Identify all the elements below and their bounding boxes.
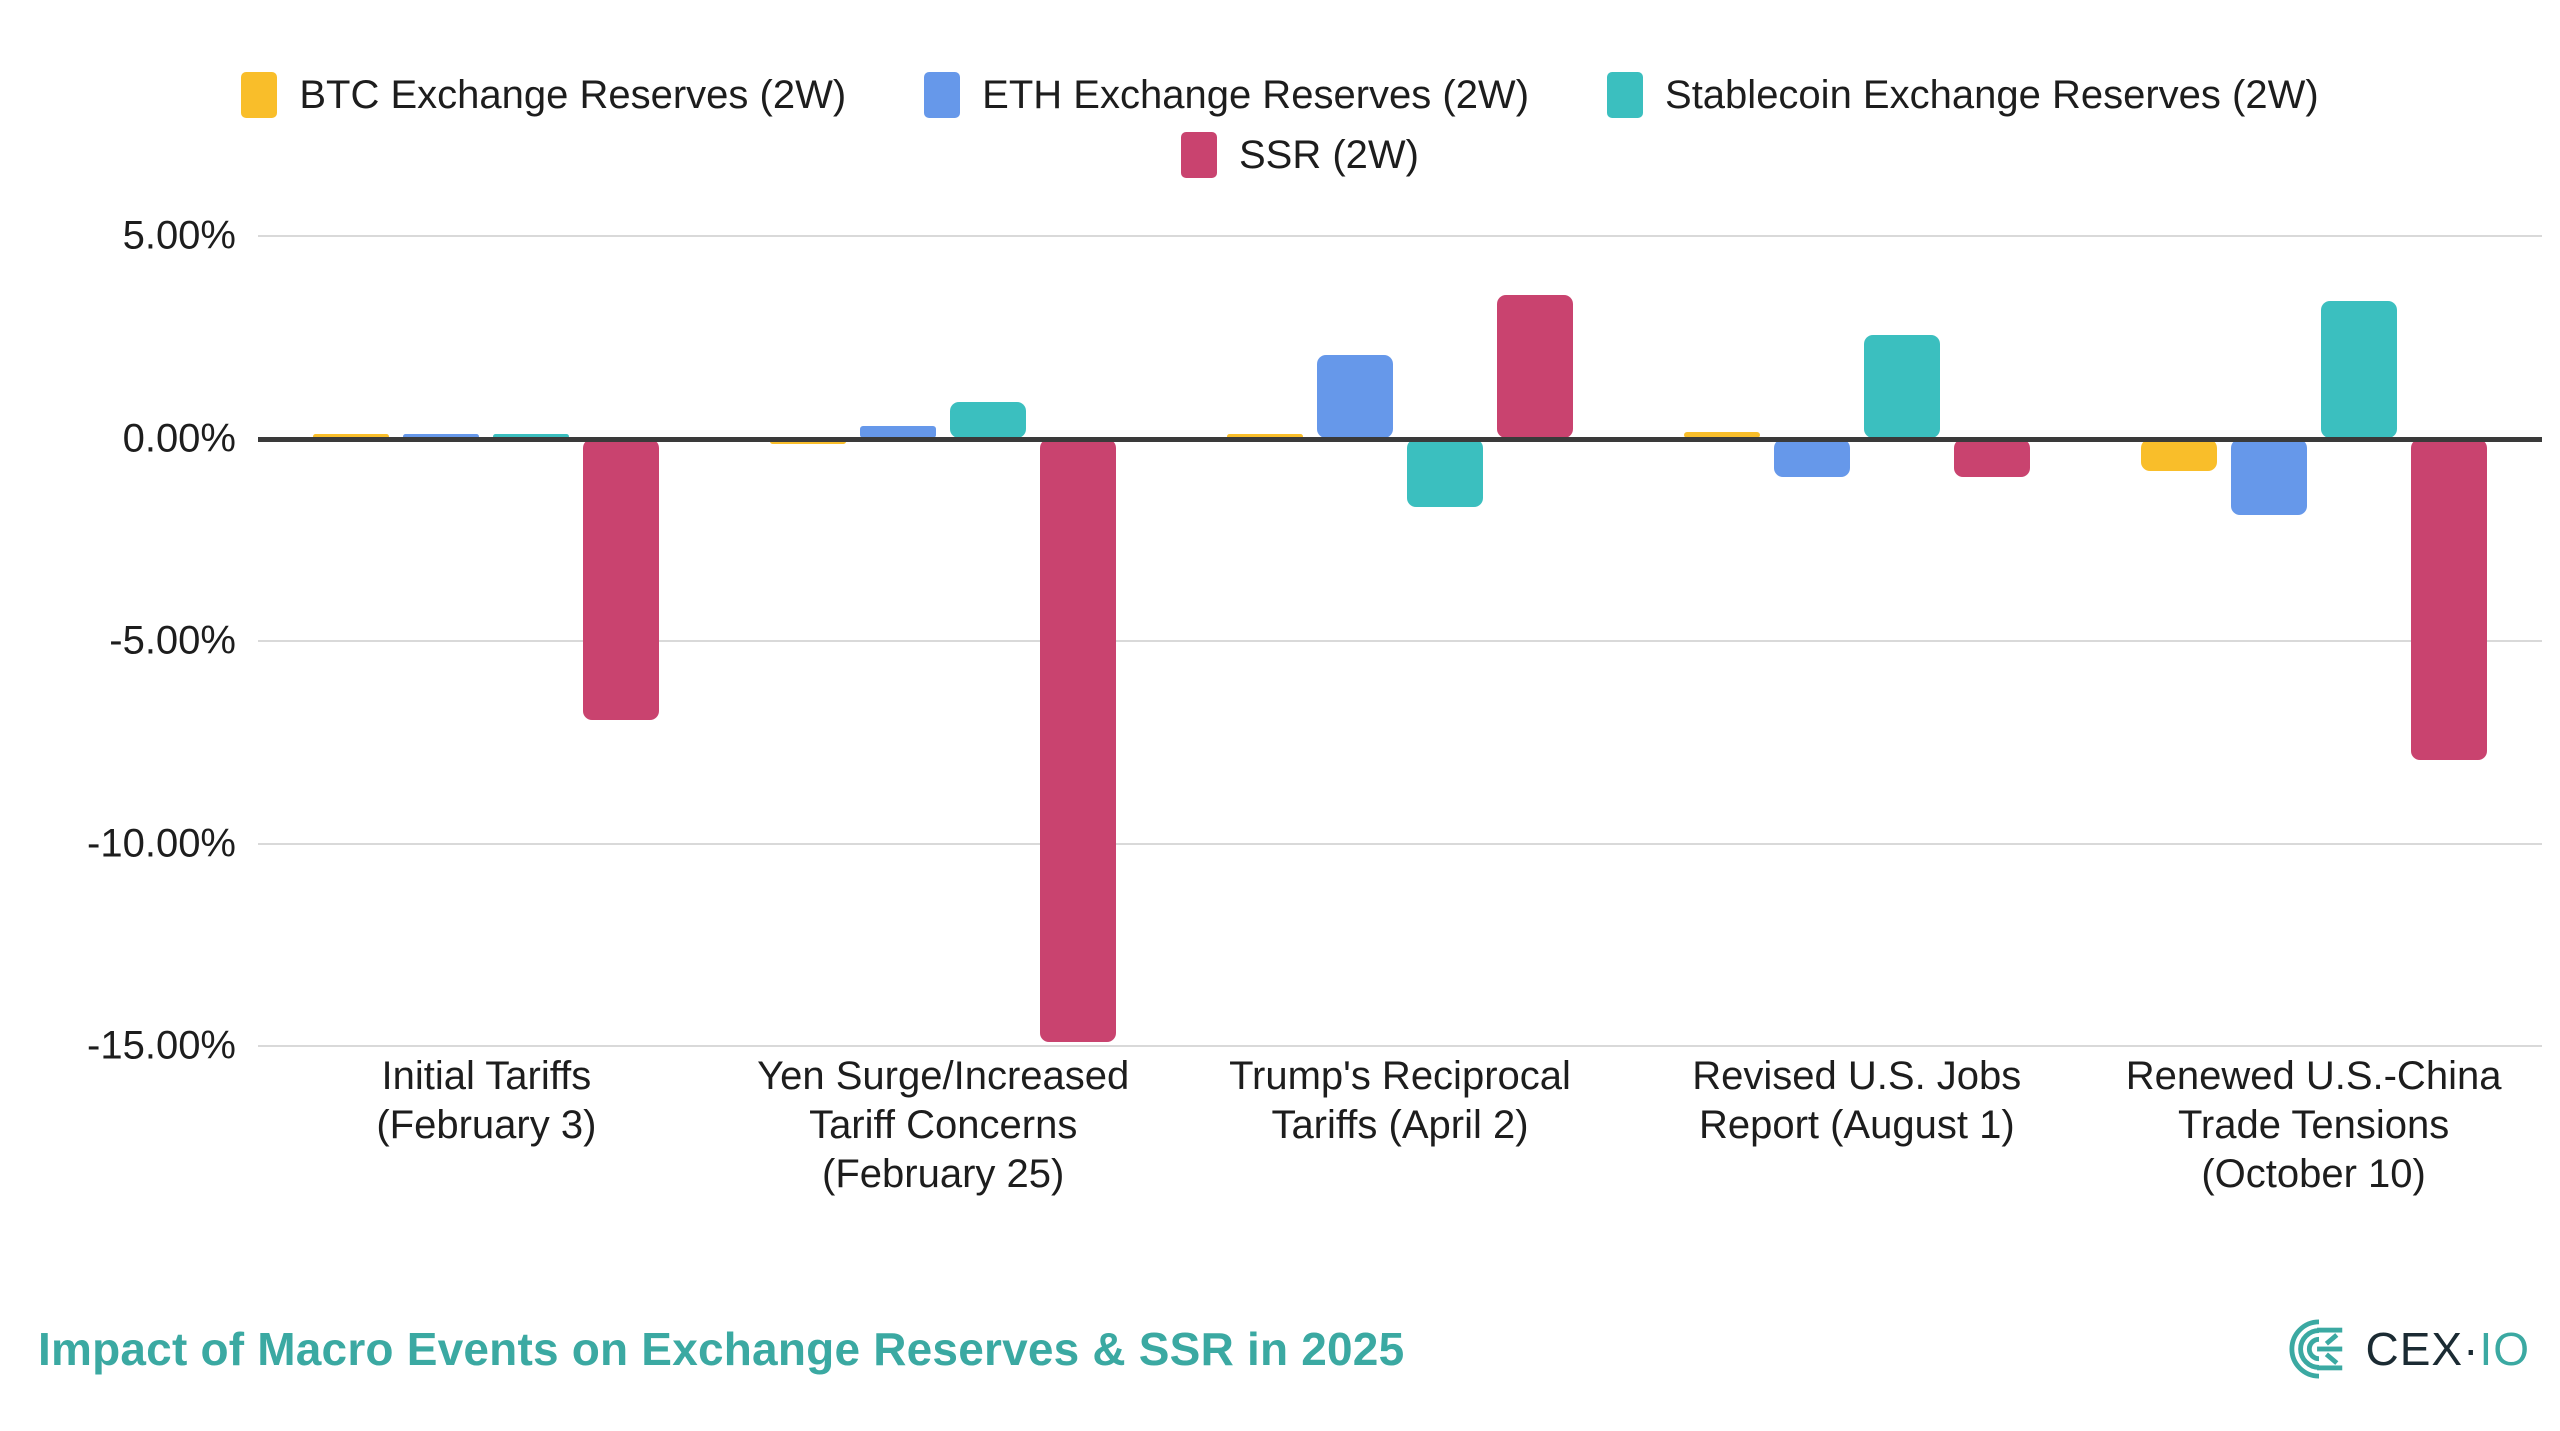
legend-item-btc[interactable]: BTC Exchange Reserves (2W)	[241, 72, 846, 118]
chart-legend: BTC Exchange Reserves (2W) ETH Exchange …	[0, 72, 2560, 178]
bar-slot	[403, 236, 479, 1046]
legend-item-eth[interactable]: ETH Exchange Reserves (2W)	[924, 72, 1529, 118]
bar-slot	[2321, 236, 2397, 1046]
bar-groups	[258, 236, 2542, 1046]
chart-container: BTC Exchange Reserves (2W) ETH Exchange …	[0, 0, 2560, 1431]
legend-item-ssr[interactable]: SSR (2W)	[1181, 132, 1419, 178]
x-axis-category-label: Revised U.S. JobsReport (August 1)	[1628, 1052, 2085, 1198]
brand-logo: CEX·IO	[2288, 1318, 2530, 1380]
legend-swatch-stablecoin-icon	[1607, 72, 1643, 118]
zero-line	[258, 437, 2542, 442]
bar-group	[2085, 236, 2542, 1046]
y-axis: 5.00%0.00%-5.00%-10.00%-15.00%	[0, 236, 258, 1046]
bar-group	[715, 236, 1172, 1046]
bar-slot	[950, 236, 1026, 1046]
bar-slot	[2411, 236, 2487, 1046]
legend-swatch-btc-icon	[241, 72, 277, 118]
x-axis-category-label: Trump's ReciprocalTariffs (April 2)	[1172, 1052, 1629, 1198]
bar-slot	[1684, 236, 1760, 1046]
y-axis-tick-label: 5.00%	[123, 214, 236, 259]
x-axis-labels: Initial Tariffs(February 3)Yen Surge/Inc…	[258, 1052, 2542, 1198]
bar-slot	[1227, 236, 1303, 1046]
x-axis-category-label: Yen Surge/IncreasedTariff Concerns(Febru…	[715, 1052, 1172, 1198]
bar[interactable]	[583, 439, 659, 720]
x-axis-category-line: (February 3)	[274, 1101, 699, 1150]
x-axis-category-line: Tariff Concerns	[731, 1101, 1156, 1150]
x-axis-category-line: Trade Tensions	[2101, 1101, 2526, 1150]
y-axis-tick-label: -5.00%	[109, 619, 236, 664]
bar[interactable]	[950, 402, 1026, 438]
brand-wordmark-dark: CEX·	[2366, 1323, 2480, 1375]
bar[interactable]	[2141, 439, 2217, 471]
x-axis-category-line: Revised U.S. Jobs	[1644, 1052, 2069, 1101]
bar[interactable]	[1040, 439, 1116, 1042]
bar[interactable]	[1317, 355, 1393, 438]
legend-item-stablecoin[interactable]: Stablecoin Exchange Reserves (2W)	[1607, 72, 2319, 118]
bar[interactable]	[1864, 335, 1940, 438]
bar-slot	[1954, 236, 2030, 1046]
bar-group	[258, 236, 715, 1046]
x-axis-category-line: Report (August 1)	[1644, 1101, 2069, 1150]
bar[interactable]	[2231, 439, 2307, 516]
bar[interactable]	[1407, 439, 1483, 508]
bar[interactable]	[1497, 295, 1573, 439]
y-axis-tick-label: 0.00%	[123, 416, 236, 461]
bar-slot	[1774, 236, 1850, 1046]
bar-slot	[2141, 236, 2217, 1046]
x-axis-category-label: Initial Tariffs(February 3)	[258, 1052, 715, 1198]
bar-group	[1172, 236, 1629, 1046]
legend-label-eth: ETH Exchange Reserves (2W)	[982, 75, 1529, 115]
plot-area: 5.00%0.00%-5.00%-10.00%-15.00%	[0, 236, 2560, 1046]
bar-slot	[583, 236, 659, 1046]
bar-slot	[1040, 236, 1116, 1046]
bar-slot	[860, 236, 936, 1046]
x-axis-category-label: Renewed U.S.-ChinaTrade Tensions(October…	[2085, 1052, 2542, 1198]
bar-group	[1628, 236, 2085, 1046]
legend-row-primary: BTC Exchange Reserves (2W) ETH Exchange …	[241, 72, 2318, 118]
bar-slot	[1497, 236, 1573, 1046]
legend-row-secondary: SSR (2W)	[1141, 132, 1419, 178]
y-axis-tick-label: -15.00%	[87, 1024, 236, 1069]
bar-slot	[2231, 236, 2307, 1046]
cex-io-logo-icon	[2288, 1318, 2350, 1380]
bar-slot	[1864, 236, 1940, 1046]
legend-label-btc: BTC Exchange Reserves (2W)	[299, 75, 846, 115]
legend-label-stablecoin: Stablecoin Exchange Reserves (2W)	[1665, 75, 2319, 115]
x-axis-category-line: (October 10)	[2101, 1150, 2526, 1199]
x-axis-category-line: Renewed U.S.-China	[2101, 1052, 2526, 1101]
bar-slot	[493, 236, 569, 1046]
x-axis-category-line: Trump's Reciprocal	[1188, 1052, 1613, 1101]
x-axis-category-line: Yen Surge/Increased	[731, 1052, 1156, 1101]
brand-wordmark: CEX·IO	[2366, 1326, 2530, 1372]
bar[interactable]	[1774, 439, 1850, 477]
chart-title: Impact of Macro Events on Exchange Reser…	[38, 1322, 1404, 1376]
legend-swatch-ssr-icon	[1181, 132, 1217, 178]
bar-slot	[313, 236, 389, 1046]
brand-wordmark-teal: IO	[2479, 1323, 2530, 1375]
bar-slot	[1317, 236, 1393, 1046]
bar-slot	[770, 236, 846, 1046]
x-axis-category-line: Tariffs (April 2)	[1188, 1101, 1613, 1150]
bar-slot	[1407, 236, 1483, 1046]
bar[interactable]	[2321, 301, 2397, 439]
y-axis-tick-label: -10.00%	[87, 821, 236, 866]
bar[interactable]	[2411, 439, 2487, 761]
x-axis-category-line: Initial Tariffs	[274, 1052, 699, 1101]
legend-swatch-eth-icon	[924, 72, 960, 118]
x-axis-category-line: (February 25)	[731, 1150, 1156, 1199]
grid-area	[258, 236, 2542, 1046]
legend-label-ssr: SSR (2W)	[1239, 135, 1419, 175]
bar[interactable]	[1954, 439, 2030, 477]
